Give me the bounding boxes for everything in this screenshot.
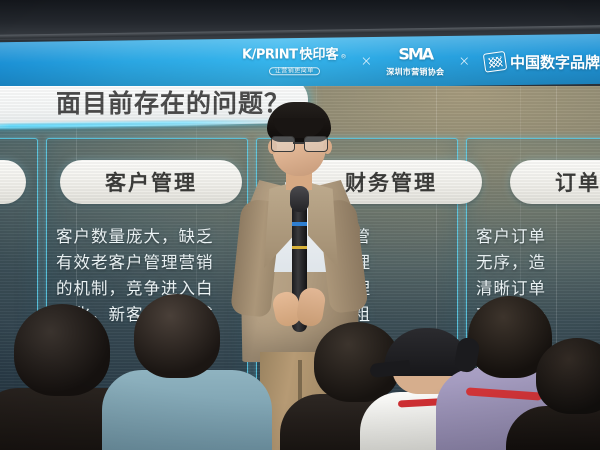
attendee-body xyxy=(102,370,272,450)
microphone-band-gold xyxy=(292,246,307,249)
logo-kprint-latin: K/PRINT xyxy=(242,48,297,61)
separator-x-icon-1: × xyxy=(356,53,376,69)
photo-stage: K/PRINT 快印客 ® 让营销更简单 × SMA 深圳市营销协会 × 中国数… xyxy=(0,0,600,450)
glasses-lens-right xyxy=(304,136,328,152)
attendee-head xyxy=(14,304,110,396)
registered-mark-icon: ® xyxy=(340,54,346,60)
association-name: 深圳市营销协会 xyxy=(386,68,444,76)
slide-body-0: ， 。 xyxy=(0,226,32,278)
audience-attendee-far-right xyxy=(520,354,600,450)
separator-x-icon-2: × xyxy=(454,53,474,69)
microphone-band-blue xyxy=(292,222,307,226)
glasses-lens-left xyxy=(271,136,295,152)
sponsor-logo-row: K/PRINT 快印客 ® 让营销更简单 × SMA 深圳市营销协会 × 中国数… xyxy=(0,36,600,86)
glasses-bridge xyxy=(293,142,304,144)
slide-heading-order: 订单管理 xyxy=(510,160,600,204)
sponsor-banner: K/PRINT 快印客 ® 让营销更简单 × SMA 深圳市营销协会 × 中国数… xyxy=(0,34,600,93)
glasses-icon xyxy=(271,136,327,151)
festival-badge-icon xyxy=(483,50,507,72)
logo-china-digital-brand-festival: 中国数字品牌节 xyxy=(484,51,600,72)
logo-kprint-wordmark: K/PRINT 快印客 ® xyxy=(242,48,346,61)
audience-attendee-teal-shirt xyxy=(108,300,258,450)
logo-kprint: K/PRINT 快印客 ® 让营销更简单 xyxy=(242,48,346,75)
logo-kprint-cn: 快印客 xyxy=(299,48,338,61)
logo-kprint-tagline: 让营销更简单 xyxy=(269,67,320,75)
association-glyph-icon: SMA xyxy=(398,46,432,62)
microphone-icon xyxy=(290,186,309,212)
slide-heading-customer: 客户管理 xyxy=(60,160,242,204)
attendee-head xyxy=(134,294,220,378)
festival-badge-pattern xyxy=(488,55,502,67)
festival-name: 中国数字品牌节 xyxy=(510,51,600,72)
logo-shenzhen-marketing-association: SMA 深圳市营销协会 xyxy=(386,46,444,76)
